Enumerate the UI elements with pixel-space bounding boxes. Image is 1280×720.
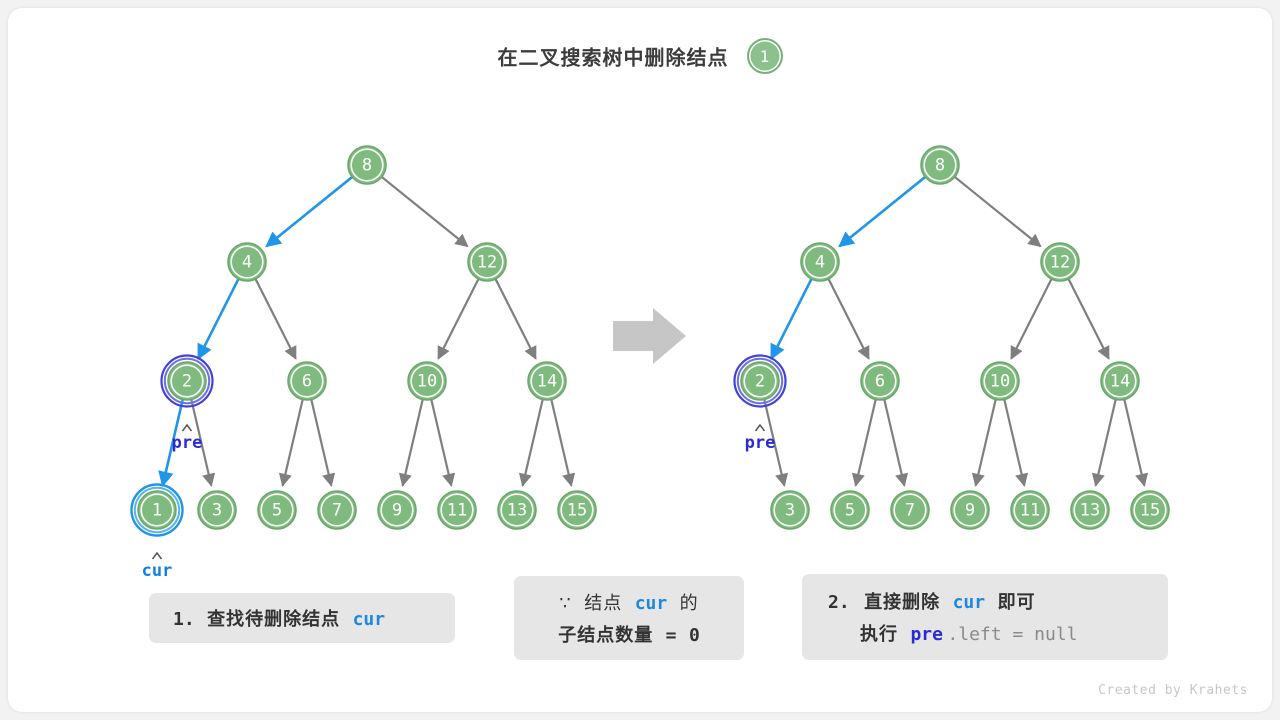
tree-node: 13 (498, 491, 536, 529)
tree-edge (954, 176, 1041, 246)
tree-node: 5 (258, 491, 296, 529)
tree-edge (438, 278, 479, 359)
tree-node-label: 1 (152, 501, 162, 521)
tree-edge (255, 278, 296, 359)
tree-node-label: 3 (785, 501, 795, 521)
tree-node-label: 11 (447, 501, 467, 521)
tree-node: 15 (1131, 491, 1169, 529)
step2-number: 2. (828, 592, 850, 613)
step2-line2-a: 执行 (860, 624, 898, 644)
tree-edge (311, 399, 331, 486)
tree-node: 11 (1011, 491, 1049, 529)
tree-edge (551, 399, 571, 486)
step1-number: 1. (173, 609, 195, 630)
pointer-label: pre (172, 433, 203, 453)
caption-step-2: 2. 直接删除 cur 即可 执行 pre .left = null (802, 574, 1168, 660)
tree-edge (523, 399, 543, 486)
tree-node: 11 (438, 491, 476, 529)
reason-code-cur: cur (635, 593, 668, 614)
tree-edge (839, 176, 926, 246)
tree-node: 10 (408, 362, 446, 400)
tree-node: 3 (771, 491, 809, 529)
tree-node: 1 (132, 485, 183, 536)
tree-node: 6 (288, 362, 326, 400)
tree-edge (266, 176, 353, 246)
tree-node-label: 14 (1110, 372, 1130, 392)
tree-edge (1011, 278, 1052, 359)
tree-node: 6 (861, 362, 899, 400)
diagram-card: 在二叉搜索树中删除结点1 841226101413579111315 84122… (8, 8, 1272, 712)
step2-line1-b: 即可 (998, 592, 1036, 612)
tree-node: 14 (1101, 362, 1139, 400)
tree-node: 3 (198, 491, 236, 529)
tree-node-label: 4 (242, 253, 252, 273)
tree-node-label: 9 (392, 501, 402, 521)
tree-node: 8 (348, 146, 386, 184)
tree-node: 12 (468, 243, 506, 281)
tree-node-label: 4 (815, 253, 825, 273)
step2-line1-a: 直接删除 (864, 592, 940, 612)
reason-line2: 子结点数量 (558, 625, 653, 645)
tree-edge (1124, 399, 1144, 486)
tree-edge (771, 278, 812, 359)
tree-node: 9 (378, 491, 416, 529)
tree-edge (1004, 399, 1024, 486)
tree-edge (1068, 278, 1109, 359)
tree-node: 9 (951, 491, 989, 529)
tree-node: 7 (891, 491, 929, 529)
tree-node-label: 13 (1080, 501, 1100, 521)
tree-node-label: 5 (845, 501, 855, 521)
pointer-label: pre (745, 433, 776, 453)
step2-line2-rest: .left = null (947, 624, 1077, 645)
tree-node: 7 (318, 491, 356, 529)
tree-node-label: 6 (302, 372, 312, 392)
tree-edge (884, 399, 904, 486)
transition-arrow-icon (613, 308, 686, 364)
tree-edge (828, 278, 869, 359)
tree-node: 12 (1041, 243, 1079, 281)
pointer-label: cur (142, 561, 173, 581)
right-tree-nodes: 84122610143579111315 (735, 146, 1170, 529)
tree-edge (403, 399, 423, 486)
caret-up-icon (183, 425, 192, 431)
tree-edge (1096, 399, 1116, 486)
tree-node: 4 (228, 243, 266, 281)
tree-node-label: 8 (362, 156, 372, 176)
tree-node-label: 12 (1050, 253, 1070, 273)
right-tree-edges (764, 176, 1144, 485)
tree-node: 8 (921, 146, 959, 184)
tree-node-label: 5 (272, 501, 282, 521)
tree-node: 5 (831, 491, 869, 529)
tree-edge (976, 399, 996, 486)
step1-code-cur: cur (353, 609, 386, 630)
tree-node-label: 10 (417, 372, 437, 392)
tree-node-label: 15 (1140, 501, 1160, 521)
tree-node-label: 9 (965, 501, 975, 521)
footer-credit: Created by Krahets (1098, 683, 1248, 698)
tree-node: 2 (162, 356, 213, 407)
reason-equals: = (666, 625, 677, 646)
reason-line1-a: 结点 (584, 593, 622, 613)
tree-edge (431, 399, 451, 486)
tree-node-label: 13 (507, 501, 527, 521)
tree-edge (283, 399, 303, 486)
tree-edge (495, 278, 536, 359)
tree-node-label: 6 (875, 372, 885, 392)
caret-up-icon (153, 553, 162, 559)
tree-node-label: 3 (212, 501, 222, 521)
tree-node-label: 14 (537, 372, 557, 392)
tree-node: 13 (1071, 491, 1109, 529)
tree-node: 2 (735, 356, 786, 407)
caption-step-1: 1. 查找待删除结点 cur (149, 593, 455, 643)
caret-up-icon (756, 425, 765, 431)
tree-edge (381, 176, 468, 246)
left-tree-edges (163, 176, 572, 485)
reason-line1-b: 的 (680, 593, 699, 613)
tree-node-label: 2 (755, 372, 765, 392)
tree-node-label: 2 (182, 372, 192, 392)
tree-node-label: 15 (567, 501, 587, 521)
tree-node-label: 7 (905, 501, 915, 521)
tree-node-label: 12 (477, 253, 497, 273)
reason-value: 0 (689, 625, 700, 646)
tree-edge (198, 278, 239, 359)
caption-reason: ∵ 结点 cur 的 子结点数量 = 0 (514, 576, 744, 660)
step2-code-pre: pre (910, 624, 943, 645)
tree-node-label: 8 (935, 156, 945, 176)
tree-node-label: 11 (1020, 501, 1040, 521)
tree-node-label: 7 (332, 501, 342, 521)
step1-text: 查找待删除结点 (207, 609, 340, 629)
pointer-marker-cur: cur (142, 553, 173, 581)
tree-node-label: 10 (990, 372, 1010, 392)
tree-node: 14 (528, 362, 566, 400)
tree-node: 15 (558, 491, 596, 529)
tree-edge (856, 399, 876, 486)
tree-node: 10 (981, 362, 1019, 400)
tree-node: 4 (801, 243, 839, 281)
reason-symbol: ∵ (559, 593, 571, 613)
step2-code-cur: cur (953, 592, 986, 613)
